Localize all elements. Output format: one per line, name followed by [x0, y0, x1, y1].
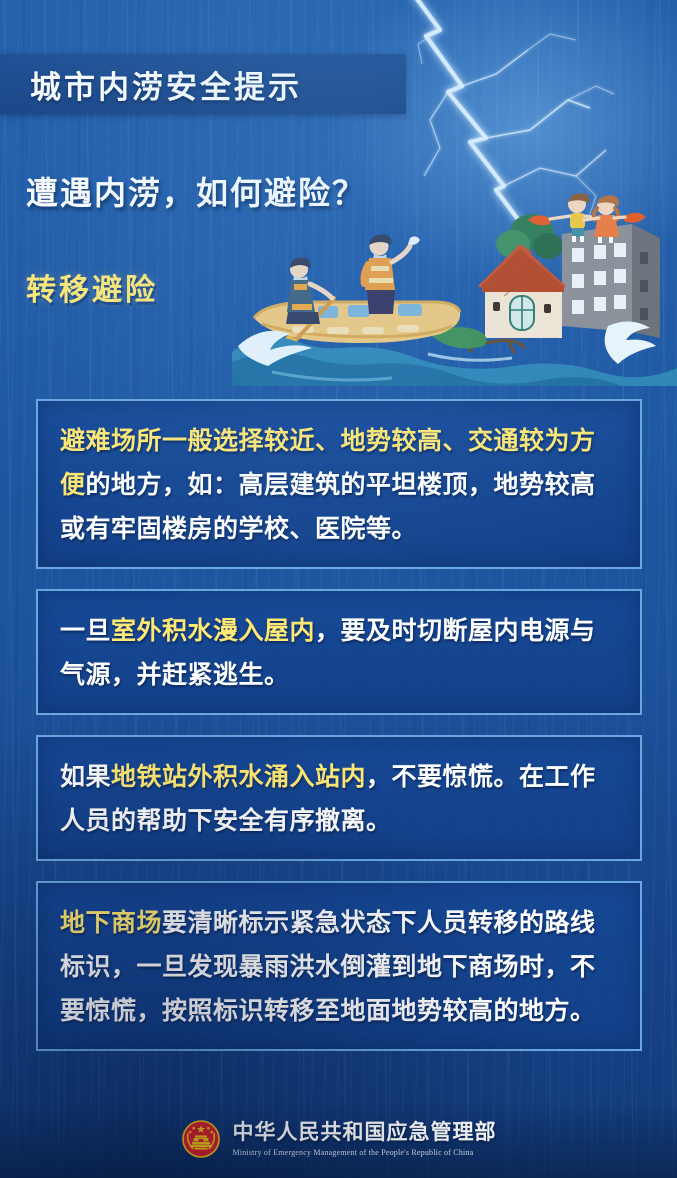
- tip-card-text: 避难场所一般选择较近、地势较高、交通较为方便的地方，如：高层建筑的平坦楼顶，地势…: [60, 419, 618, 551]
- tip-card-underground-mall: 地下商场要清晰标示紧急状态下人员转移的路线标识，一旦发现暴雨洪水倒灌到地下商场时…: [36, 881, 642, 1051]
- tip-card-indoor-flooding: 一旦室外积水漫入屋内，要及时切断屋内电源与气源，并赶紧逃生。: [36, 589, 642, 715]
- tip-highlight: 室外积水漫入屋内: [111, 617, 315, 645]
- footer-org-cn: 中华人民共和国应急管理部: [233, 1121, 497, 1145]
- tip-card-text: 地下商场要清晰标示紧急状态下人员转移的路线标识，一旦发现暴雨洪水倒灌到地下商场时…: [60, 901, 618, 1033]
- tip-card-text: 如果地铁站外积水涌入站内，不要惊慌。在工作人员的帮助下安全有序撤离。: [60, 755, 618, 843]
- poster-root: 城市内涝安全提示 遭遇内涝，如何避险？ 转移避险: [0, 0, 677, 1178]
- footer-org-en: Ministry of Emergency Management of the …: [233, 1148, 474, 1157]
- tip-card-shelter-location: 避难场所一般选择较近、地势较高、交通较为方便的地方，如：高层建筑的平坦楼顶，地势…: [36, 399, 642, 569]
- tip-card-text: 一旦室外积水漫入屋内，要及时切断屋内电源与气源，并赶紧逃生。: [60, 609, 618, 697]
- national-emblem-icon: [181, 1119, 221, 1159]
- flood-rescue-illustration: [232, 186, 677, 386]
- tip-body: 的地方，如：高层建筑的平坦楼顶，地势较高或有牢固楼房的学校、医院等。: [60, 471, 596, 543]
- tip-highlight: 地铁站外积水涌入站内: [111, 763, 366, 791]
- footer-org-text: 中华人民共和国应急管理部 Ministry of Emergency Manag…: [233, 1121, 497, 1157]
- tip-body: 如果: [60, 763, 111, 791]
- tip-card-subway-station: 如果地铁站外积水涌入站内，不要惊慌。在工作人员的帮助下安全有序撤离。: [36, 735, 642, 861]
- tip-highlight: 地下商场: [60, 909, 162, 937]
- tip-body: 一旦: [60, 617, 111, 645]
- tips-card-list: 避难场所一般选择较近、地势较高、交通较为方便的地方，如：高层建筑的平坦楼顶，地势…: [36, 399, 642, 1071]
- banner-title-text: 城市内涝安全提示: [30, 62, 302, 107]
- banner-title-bar: 城市内涝安全提示: [0, 54, 406, 114]
- footer-bar: 中华人民共和国应急管理部 Ministry of Emergency Manag…: [0, 1100, 677, 1178]
- page-subheading: 转移避险: [26, 265, 158, 309]
